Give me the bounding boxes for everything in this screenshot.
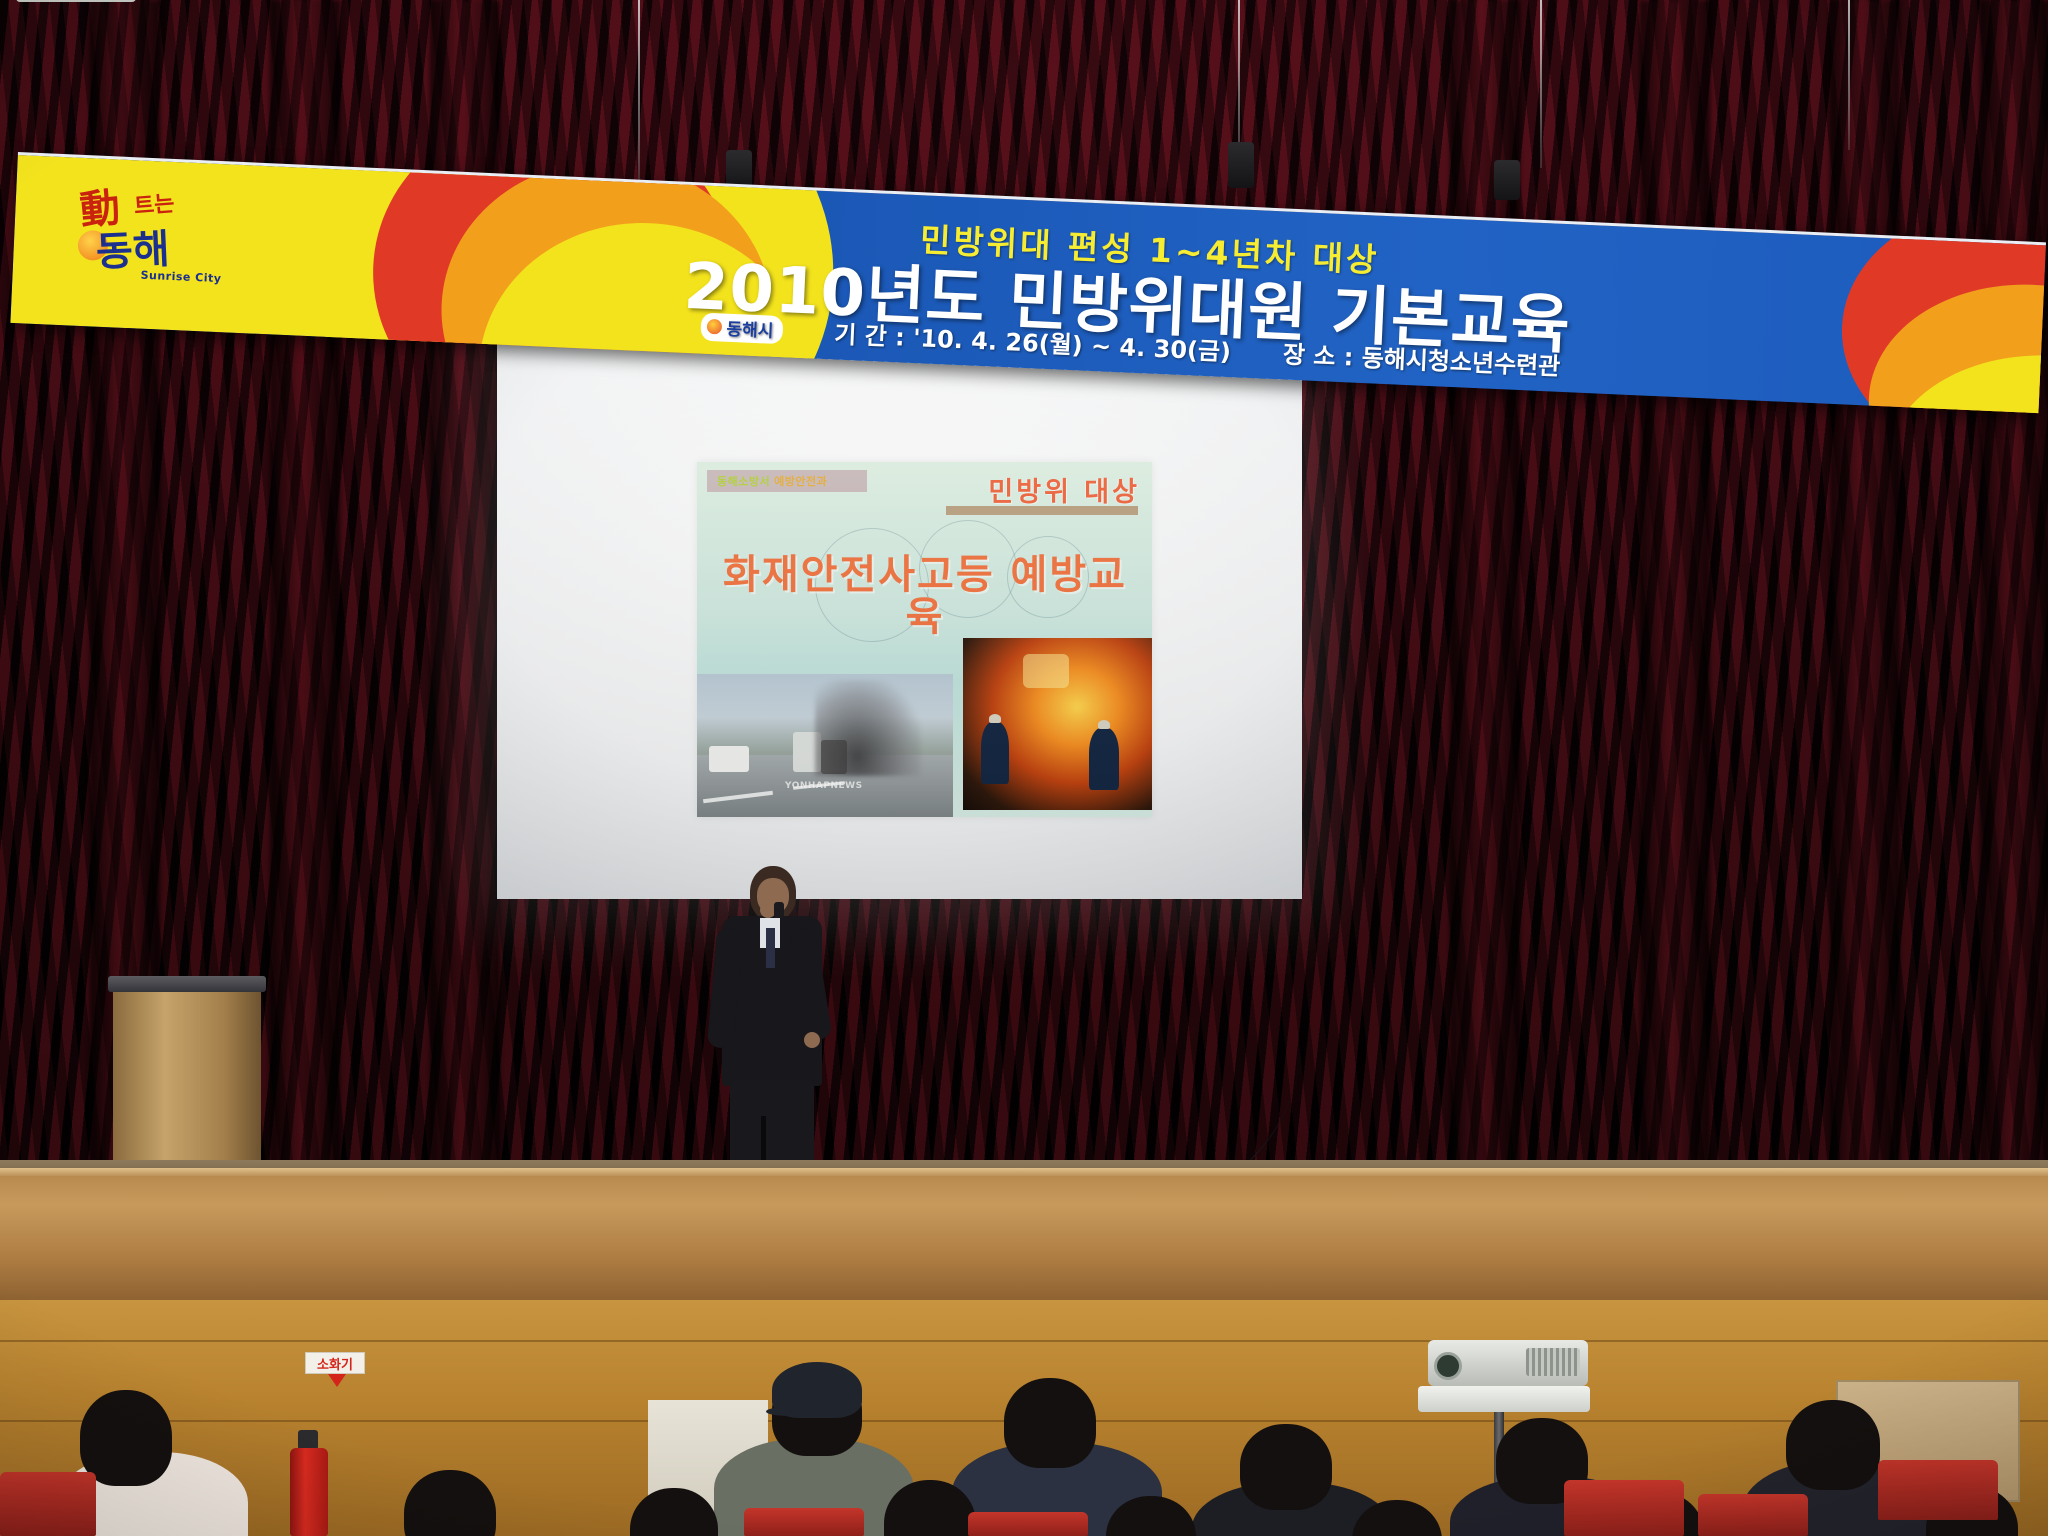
auditorium-seat (1564, 1480, 1684, 1536)
projector-top-plate (16, 0, 136, 2)
city-mark: 동해시 (700, 312, 783, 344)
audience-head (1240, 1424, 1332, 1510)
banner-place-label: 장 소 : (1282, 340, 1354, 371)
hanging-wire (1848, 0, 1850, 150)
auditorium-seat (744, 1508, 864, 1536)
presenter-tie (766, 928, 775, 968)
slide-photo-bus-fire: YONHAPNEWS (697, 674, 953, 817)
slide-header-right: 예방안전과 (774, 473, 827, 489)
city-mark-label: 동해시 (726, 314, 774, 341)
slide-header: 동해소방서 예방안전과 (707, 470, 867, 492)
slide-title: 화재안전사고등 예방교육 (721, 554, 1129, 638)
auditorium-seat (1878, 1460, 1998, 1520)
photo-scene: 동해소방서 예방안전과 민방위 대상 화재안전사고등 예방교육 YONHAPNE… (0, 0, 2048, 1536)
auditorium-seat (968, 1512, 1088, 1536)
fire-extinguisher (290, 1448, 328, 1536)
microphone (774, 902, 784, 918)
projector (1428, 1340, 1588, 1386)
projector-stand-plate (1418, 1386, 1590, 1412)
auditorium-seat (1698, 1494, 1808, 1536)
slide-photo-explosion (963, 638, 1152, 810)
projector-lens-icon (1434, 1352, 1462, 1380)
slide-header-left: 동해소방서 (717, 473, 770, 489)
banner-period-value: '10. 4. 26(월) ~ 4. 30(금) (912, 324, 1231, 366)
projector-vent (1526, 1348, 1580, 1376)
audience-cap (772, 1362, 862, 1418)
projection-screen: 동해소방서 예방안전과 민방위 대상 화재안전사고등 예방교육 YONHAPNE… (497, 284, 1302, 899)
extinguisher-sign: 소화기 (305, 1352, 365, 1374)
extinguisher-nozzle (298, 1430, 318, 1450)
audience-head (1004, 1378, 1096, 1468)
slide-topic-badge: 민방위 대상 (988, 470, 1140, 509)
city-mark-icon (706, 318, 722, 334)
photo-watermark: YONHAPNEWS (785, 781, 863, 791)
podium-top (108, 976, 266, 992)
stage-floor (0, 1176, 2048, 1306)
audience-head (80, 1390, 172, 1486)
projected-slide: 동해소방서 예방안전과 민방위 대상 화재안전사고등 예방교육 YONHAPNE… (697, 462, 1152, 817)
stage-light (1494, 160, 1520, 200)
stage-light (1228, 142, 1254, 188)
slide-rule (946, 506, 1138, 515)
hanging-wire (638, 0, 640, 190)
auditorium-seat (0, 1472, 96, 1536)
banner-place-value: 동해시청소년수련관 (1361, 344, 1561, 381)
extinguisher-arrow-icon (328, 1374, 346, 1387)
banner-period-label: 기 간 : (834, 321, 906, 352)
audience-head (1786, 1400, 1880, 1490)
hanging-wire (1540, 0, 1542, 168)
